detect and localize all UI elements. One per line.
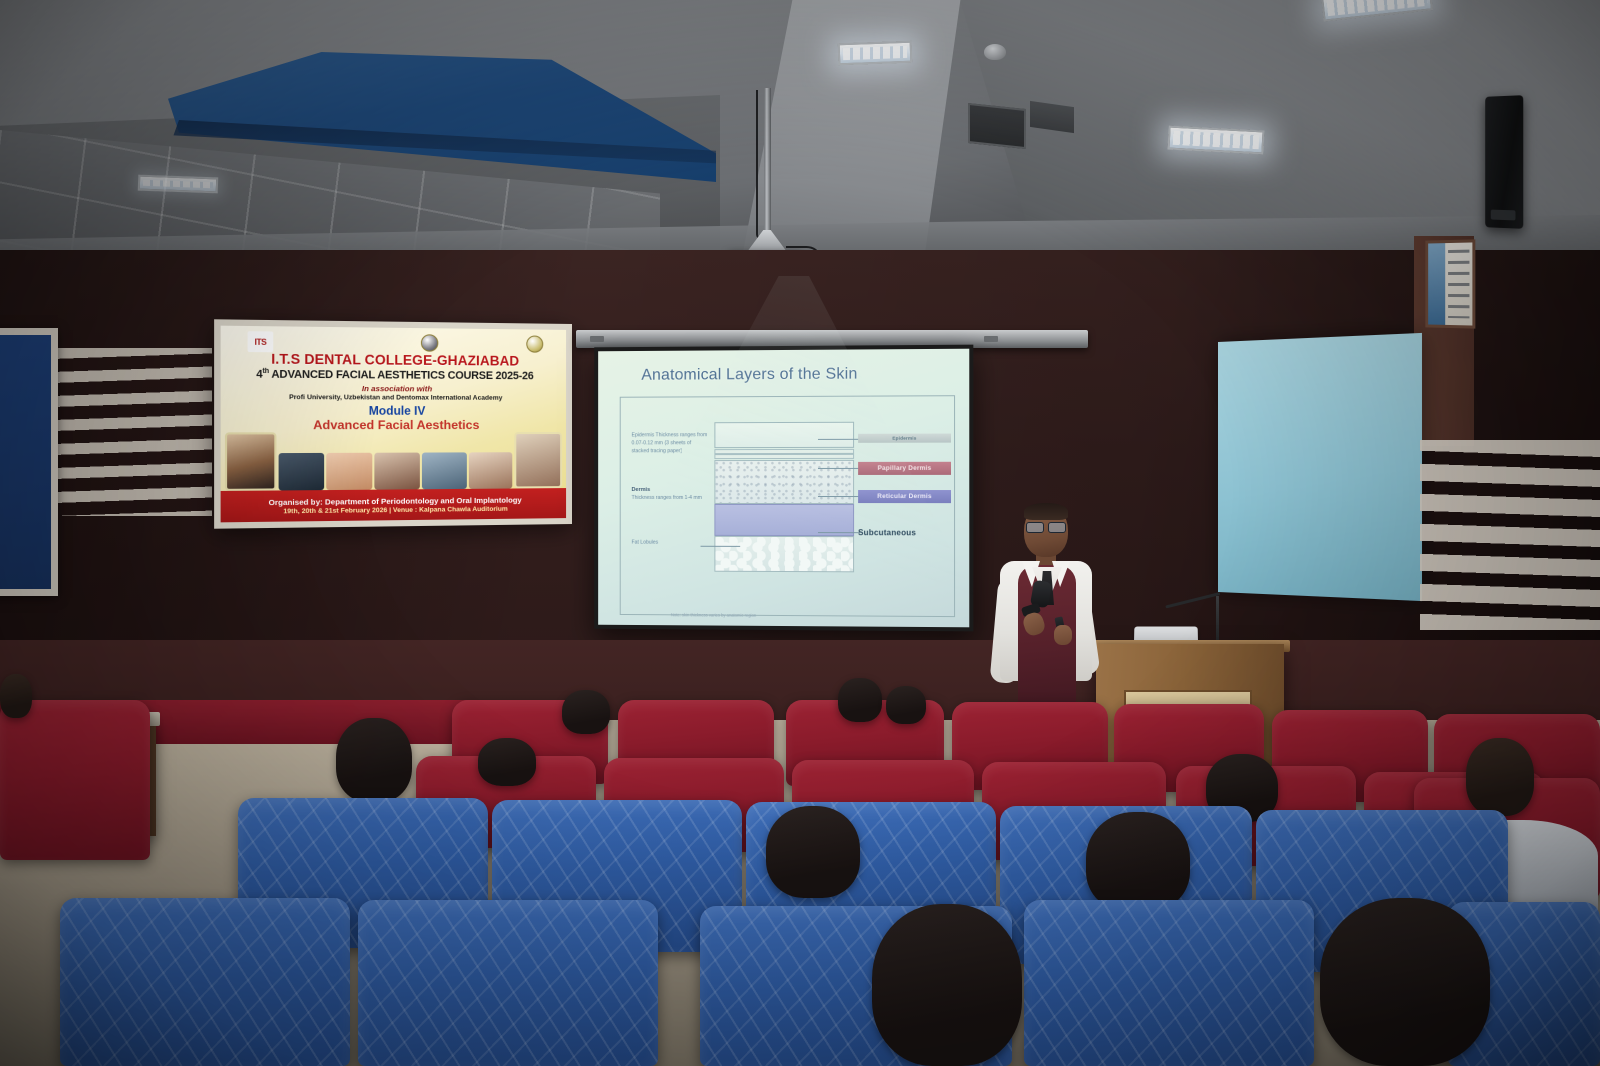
its-logo-icon: ITS [248, 331, 274, 352]
audience-member [1320, 898, 1490, 1066]
banner-photo [468, 452, 512, 489]
wall-panel-blue-left [0, 328, 58, 596]
banner-module: Module IV [369, 404, 426, 417]
wall-speaker [1485, 95, 1523, 229]
audience-member [336, 718, 412, 802]
seat-back-row-left[interactable] [0, 700, 150, 860]
leader-line [701, 546, 741, 547]
banner-date-venue: 19th, 20th & 21st February 2026 | Venue … [283, 505, 507, 515]
banner-portrait-right [515, 432, 563, 488]
event-banner: ITS I.T.S DENTAL COLLEGE-GHAZIABAD 4th A… [214, 319, 572, 528]
presenter-glasses-icon [1026, 522, 1066, 531]
layer-stratum-corneum [714, 422, 854, 448]
banner-photo [375, 453, 420, 490]
partner-logo-icon [421, 334, 438, 352]
slide-band-subcutaneous: Subcutaneous [858, 526, 951, 539]
ceiling-light-panel [838, 41, 913, 66]
layer-subcutaneous-fat [714, 536, 854, 572]
leader-line [818, 532, 860, 533]
audience-member [872, 904, 1022, 1066]
audience-member [478, 738, 536, 786]
projection-screen: Anatomical Layers of the Skin Epidermis … [594, 345, 973, 632]
slide-footnote: Note: skin thickness varies by anatomic … [671, 612, 756, 618]
ceiling-light-panel [138, 175, 219, 194]
wall-panel-teal-right [1218, 333, 1422, 601]
leader-line [818, 439, 860, 440]
banner-photo-strip [221, 444, 566, 491]
lecture-hall-scene: ITS I.T.S DENTAL COLLEGE-GHAZIABAD 4th A… [0, 0, 1600, 1066]
leader-line [818, 496, 860, 497]
seat-closest-row[interactable] [358, 900, 658, 1066]
presenter-hair [1024, 503, 1068, 520]
banner-footer: Organised by: Department of Periodontolo… [221, 488, 566, 522]
presenter-hand-right [1054, 625, 1072, 645]
banner-photo [327, 453, 373, 490]
audience-member [838, 678, 882, 722]
wall-stripes-right [1420, 440, 1600, 630]
seat-closest-row[interactable] [60, 898, 350, 1066]
wall-stripes-left [52, 348, 212, 516]
seat-closest-row[interactable] [1024, 900, 1314, 1066]
slide-band-reticular-dermis: Reticular Dermis [858, 490, 951, 503]
slide-band-papillary-dermis: Papillary Dermis [858, 462, 951, 475]
audience-member [0, 674, 32, 718]
slide-band-epidermis: Epidermis [858, 434, 951, 443]
banner-portrait-left [225, 432, 276, 491]
audience-member [886, 686, 926, 724]
smoke-detector-icon [984, 44, 1006, 60]
wall-notice-sign [1425, 239, 1475, 328]
skin-cross-section-diagram [714, 422, 854, 573]
projector-cable [756, 90, 770, 240]
slide-dermis-note: DermisThickness ranges from 1-4 mm [632, 486, 709, 503]
layer-papillary-dermis [714, 460, 854, 504]
slide-fat-label: Fat Lobules [632, 540, 709, 548]
audience-member [1086, 812, 1190, 912]
slide-epidermis-note: Epidermis Thickness ranges from 0.07-0.1… [632, 432, 709, 455]
notice-sign-text-lines [1448, 250, 1469, 319]
audience-member [766, 806, 860, 898]
banner-course-line: 4th ADVANCED FACIAL AESTHETICS COURSE 20… [256, 368, 533, 383]
slide-title: Anatomical Layers of the Skin [641, 366, 857, 385]
banner-association-label: In association with [362, 384, 432, 394]
presentation-slide: Anatomical Layers of the Skin Epidermis … [598, 349, 969, 628]
banner-module-title: Advanced Facial Aesthetics [313, 418, 479, 432]
ceiling-vent [968, 103, 1026, 149]
banner-photo [422, 452, 467, 489]
ceiling-light-panel [1167, 126, 1264, 155]
leader-line [818, 468, 860, 469]
banner-logo-row: ITS [226, 330, 561, 356]
notice-sign-image [1428, 243, 1445, 325]
audience-member [1466, 738, 1534, 816]
banner-photo [278, 453, 324, 491]
audience-member [562, 690, 610, 734]
layer-basement-line [714, 454, 854, 459]
banner-partners: Profi University, Uzbekistan and Dentoma… [289, 394, 502, 402]
partner-logo-icon [526, 335, 543, 352]
presenter-speaker [980, 505, 1112, 720]
